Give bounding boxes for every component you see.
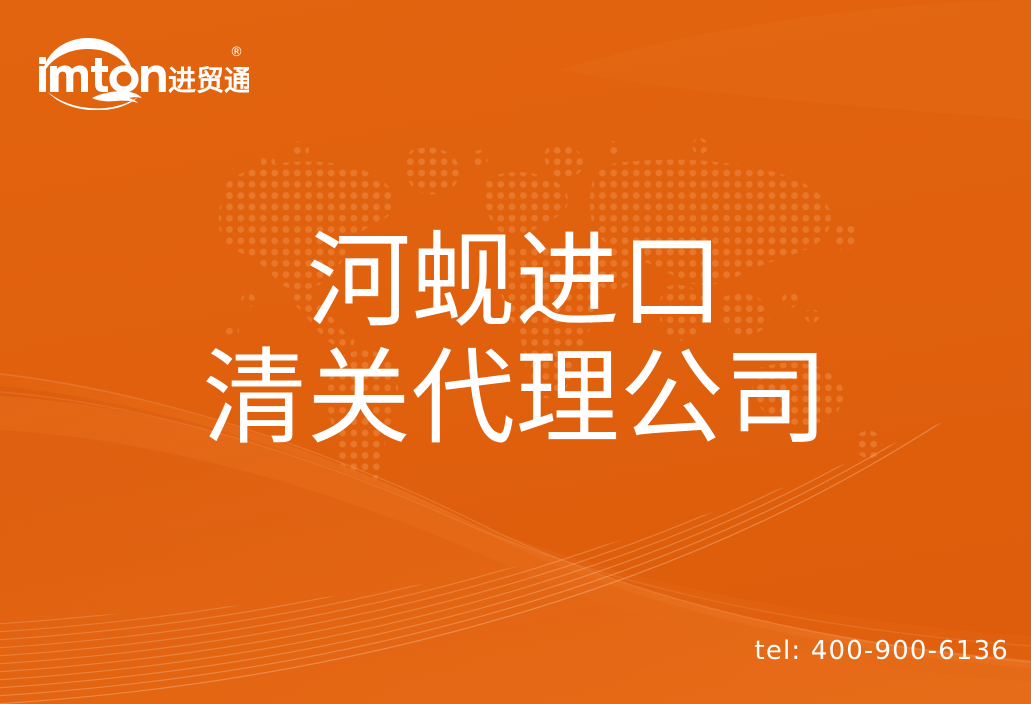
swoosh-icon — [48, 91, 142, 110]
contact-phone[interactable]: tel: 400-900-6136 — [754, 636, 1009, 666]
brand-logo[interactable]: 进贸通 ® — [34, 30, 249, 110]
registered-trademark-icon: ® — [230, 45, 243, 60]
headline: 河蚬进口 清关代理公司 — [0, 228, 1031, 452]
headline-line-1: 河蚬进口 — [0, 228, 1031, 335]
promo-banner: 进贸通 ® 河蚬进口 清关代理公司 tel: 400-900-6136 — [0, 0, 1031, 704]
logo-wordmark-chinese: 进贸通 — [168, 64, 249, 97]
logo-artwork: 进贸通 ® — [34, 30, 249, 110]
headline-line-2: 清关代理公司 — [0, 345, 1031, 452]
